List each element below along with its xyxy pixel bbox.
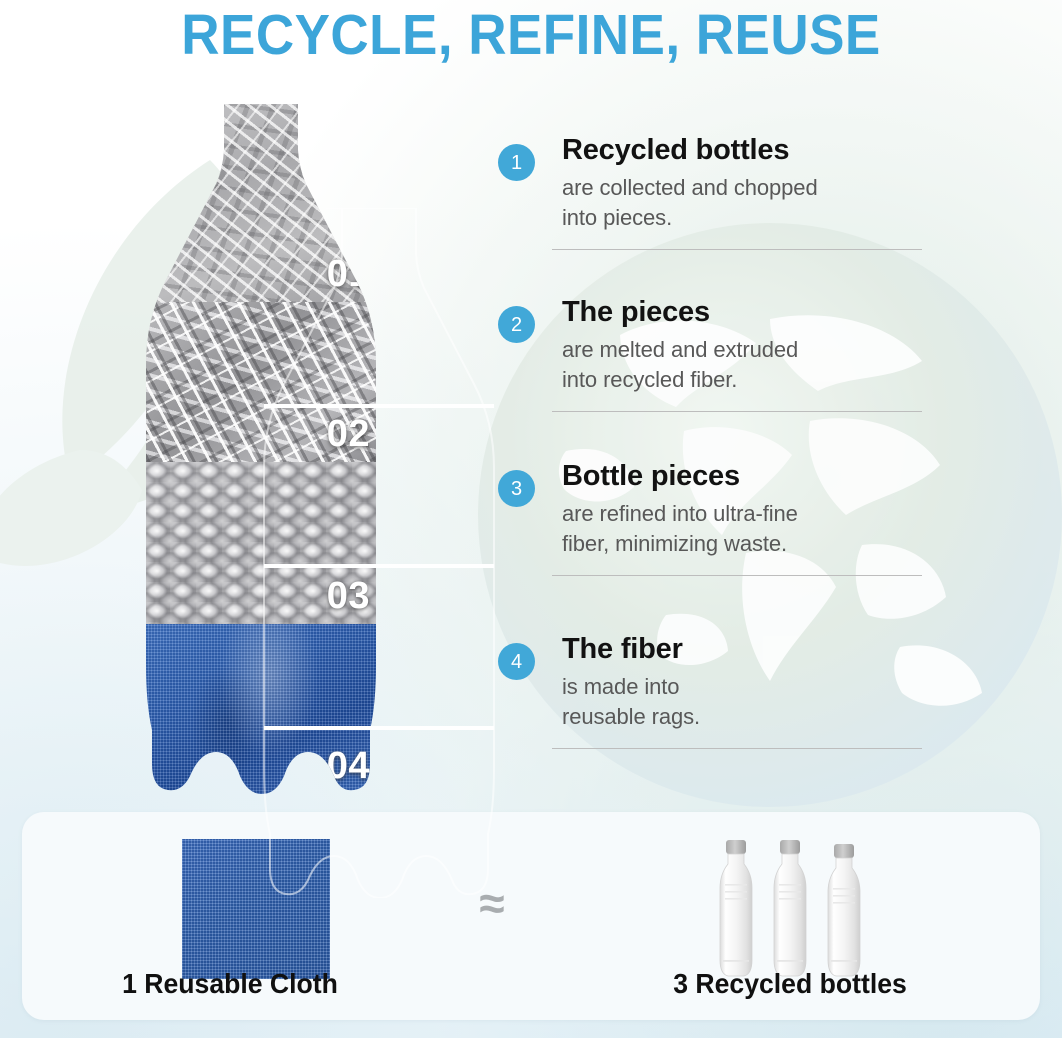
step-title-4: The fiber <box>562 633 936 665</box>
step-body-1: are collected and chopped into pieces. <box>562 173 936 232</box>
step-divider-1 <box>552 249 922 250</box>
band-number-02: 02 <box>327 413 370 456</box>
band-number-01: 01 <box>327 253 370 296</box>
step-body-3: are refined into ultra-fine fiber, minim… <box>562 499 936 558</box>
reusable-cloth-swatch <box>182 839 330 979</box>
page-title: RECYCLE, REFINE, REUSE <box>37 2 1025 68</box>
band-number-04: 04 <box>327 745 370 788</box>
approximately-equal-icon: ≈ <box>462 880 522 926</box>
step-item-2: 2 The pieces are melted and extruded int… <box>496 296 936 460</box>
band-number-03: 03 <box>327 575 370 618</box>
step-divider-3 <box>552 575 922 576</box>
step-item-1: 1 Recycled bottles are collected and cho… <box>496 134 936 296</box>
step-title-2: The pieces <box>562 296 936 328</box>
step-badge-1: 1 <box>498 144 535 181</box>
infographic-poster: RECYCLE, REFINE, REUSE 01 02 03 04 <box>0 0 1062 1038</box>
step-badge-2: 2 <box>498 306 535 343</box>
recycled-bottles-icon <box>710 834 880 982</box>
step-badge-4: 4 <box>498 643 535 680</box>
cloth-label: 1 Reusable Cloth <box>12 968 449 1000</box>
step-body-2: are melted and extruded into recycled fi… <box>562 335 936 394</box>
step-body-4: is made into reusable rags. <box>562 672 936 731</box>
bottles-label: 3 Recycled bottles <box>572 968 1009 1000</box>
step-item-3: 3 Bottle pieces are refined into ultra-f… <box>496 460 936 633</box>
steps-list: 1 Recycled bottles are collected and cho… <box>496 134 936 783</box>
bottle-band-01: 01 <box>118 104 388 302</box>
step-item-4: 4 The fiber is made into reusable rags. <box>496 633 936 783</box>
step-title-1: Recycled bottles <box>562 134 936 166</box>
step-badge-3: 3 <box>498 470 535 507</box>
bottle-band-02: 02 <box>118 302 388 462</box>
step-divider-4 <box>552 748 922 749</box>
bottle-band-03: 03 <box>118 462 388 624</box>
bottle-band-04: 04 <box>118 624 388 794</box>
step-divider-2 <box>552 411 922 412</box>
step-title-3: Bottle pieces <box>562 460 936 492</box>
bottle-graphic: 01 02 03 04 <box>118 104 388 794</box>
